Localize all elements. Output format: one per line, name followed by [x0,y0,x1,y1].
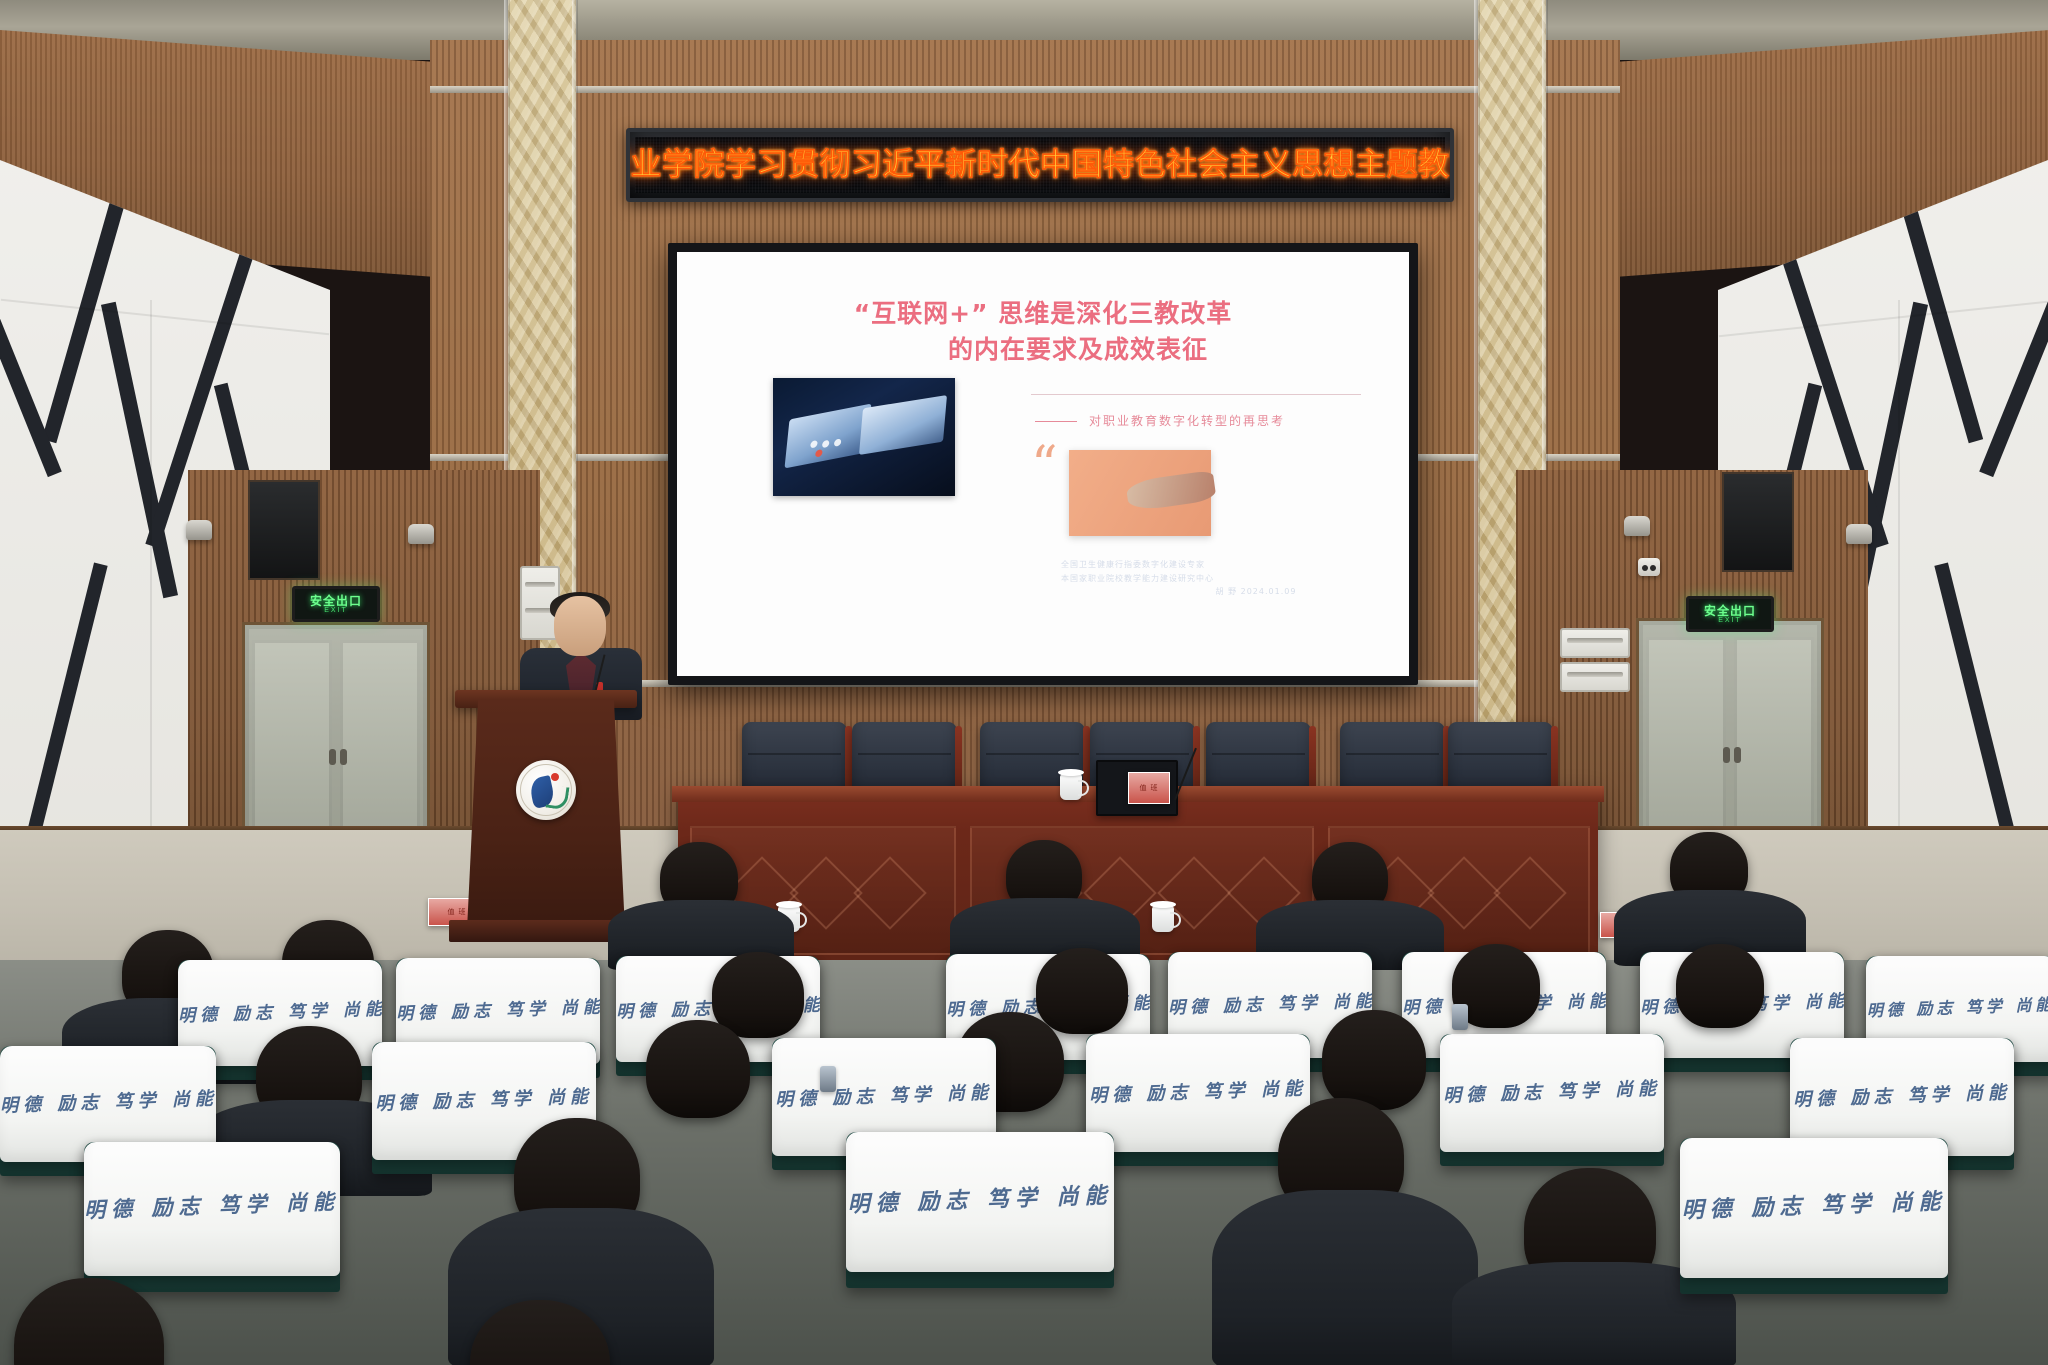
audience-chair[interactable]: 明德 励志 笃学 尚能 [1086,1034,1310,1166]
teacup-lid [1058,769,1084,776]
audience-head [1322,1010,1426,1110]
slide-title-line2: 的内在要求及成效表征 [677,332,1409,368]
folding-device-left-icon [784,404,871,469]
wall-trim-upper [430,86,1620,93]
name-card-center: 值 班 [1128,772,1170,804]
projection-screen[interactable]: “互联网+” 思维是深化三教改革 的内在要求及成效表征 对职业教育数字化转型的再… [677,252,1409,676]
audience-chair[interactable]: 明德 励志 笃学 尚能 [1680,1138,1948,1294]
chair-motto-text: 明德 励志 笃学 尚能 [772,1078,996,1112]
teacup-front-row [1152,906,1174,932]
chair-seam [858,753,950,755]
chair-seam [1096,753,1188,755]
door-handle[interactable] [329,749,336,765]
door-handle[interactable] [340,749,347,765]
app-dot-icon [834,438,842,447]
app-dot-icon [810,440,818,449]
wall-control-panel-2[interactable] [1560,662,1630,692]
wall-control-panel-1[interactable] [1560,628,1630,658]
name-card-text: 值 班 [1132,776,1166,800]
chair-cover: 明德 励志 笃学 尚能 [84,1142,340,1276]
table-diamond-motif [853,856,927,930]
spotlight-right [1624,516,1650,536]
exit-sign-en-text: EXIT [1718,617,1742,624]
chair-motto-text: 明德 励志 笃学 尚能 [1440,1074,1664,1108]
led-banner-text: 漳州卫生职业学院学习贯彻习近平新时代中国特色社会主义思想主题教育专题讲座 [626,150,1454,181]
led-banner: 漳州卫生职业学院学习贯彻习近平新时代中国特色社会主义思想主题教育专题讲座 [626,128,1454,202]
table-diamond-motif [1493,856,1567,930]
audience-head [1036,948,1128,1034]
chair-motto-text: 明德 励志 笃学 尚能 [846,1177,1114,1218]
chair-motto-text: 明德 励志 笃学 尚能 [1086,1074,1310,1108]
chair-seam [748,753,840,755]
presenter-head [554,596,606,656]
slide-credit-block: 全国卫生健康行指委数字化建设专家 本国家职业院校教学能力建设研究中心 胡 野 2… [1061,558,1391,599]
chair-motto-text: 明德 励志 笃学 尚能 [1866,991,2048,1022]
chair-motto-text: 明德 励志 笃学 尚能 [84,1186,340,1225]
projection-screen-frame: “互联网+” 思维是深化三教改革 的内在要求及成效表征 对职业教育数字化转型的再… [668,243,1418,685]
teacup-lid [776,901,802,908]
audience-shoulders [1212,1190,1478,1365]
loudspeaker-box-left [248,480,320,580]
chair-cover: 明德 励志 笃学 尚能 [1440,1034,1664,1152]
zigzag-stripe [26,562,107,837]
panel-seam [1719,301,2047,337]
chair-seam [1346,753,1438,755]
audience-head [712,952,804,1038]
spotlight-right-2 [1846,524,1872,544]
slide-credit-line1: 全国卫生健康行指委数字化建设专家 [1061,560,1205,569]
figure-arm-shape [1125,470,1216,512]
chair-motto-text: 明德 励志 笃学 尚能 [1790,1078,2014,1112]
teacup-center [1060,774,1082,800]
chair-motto-text: 明德 励志 笃学 尚能 [0,1084,216,1118]
zigzag-stripe [0,277,62,477]
chair-cover: 明德 励志 笃学 尚能 [846,1132,1114,1272]
exit-sign-right: 安全出口 EXIT [1686,596,1774,632]
security-camera-icon [1638,558,1660,576]
slide-subtitle: 对职业教育数字化转型的再思考 [1035,412,1285,429]
zigzag-stripe [1934,562,2015,837]
folding-device-right-icon [859,395,947,455]
outlet-slit [525,582,555,587]
chair-seam [986,753,1078,755]
chair-seam [1212,753,1304,755]
camera-lens-icon [1650,565,1656,571]
exit-sign-en-text: EXIT [324,607,348,614]
audience-head [646,1020,750,1118]
slide-device-photo [773,378,955,496]
panel-slit [1567,672,1622,677]
presentation-slide: “互联网+” 思维是深化三教改革 的内在要求及成效表征 对职业教育数字化转型的再… [677,252,1409,676]
loudspeaker-box-right [1722,472,1794,572]
chair-motto-text: 明德 励志 笃学 尚能 [1680,1183,1948,1224]
exit-sign-left: 安全出口 EXIT [292,586,380,622]
emblem-dot-icon [551,773,559,781]
slide-title-line1: “互联网+” 思维是深化三教改革 [854,299,1233,328]
slide-credit-line3: 胡 野 2024.01.09 [1061,585,1391,599]
chair-motto-text: 明德 励志 笃学 尚能 [1168,986,1372,1018]
led-banner-screen: 漳州卫生职业学院学习贯彻习近平新时代中国特色社会主义思想主题教育专题讲座 [635,137,1445,193]
teacup-lid [1150,901,1176,908]
school-emblem [516,760,576,820]
exit-sign-cn-text: 安全出口 [310,595,362,607]
audience-chair[interactable]: 明德 励志 笃学 尚能 [846,1132,1114,1288]
chair-seam [1454,753,1546,755]
slide-title: “互联网+” 思维是深化三教改革 的内在要求及成效表征 [677,296,1409,367]
chair-cover: 明德 励志 笃学 尚能 [1086,1034,1310,1152]
slide-accent-figure: “ [1069,450,1211,536]
panel-seam [150,300,152,900]
spotlight-left [186,520,212,540]
zigzag-stripe [101,302,178,599]
exit-sign-cn-text: 安全出口 [1704,605,1756,617]
audience-chair[interactable]: 明德 励志 笃学 尚能 [84,1142,340,1292]
ceiling-beam [520,0,1530,40]
app-dot-red-icon [815,449,823,458]
chair-cover: 明德 励志 笃学 尚能 [1680,1138,1948,1278]
slide-divider-rule [1031,394,1361,395]
chair-motto-text: 明德 励志 笃学 尚能 [396,992,600,1024]
slide-subtitle-dash [1035,421,1077,422]
door-handle[interactable] [1734,747,1741,763]
slide-credit-line2: 本国家职业院校教学能力建设研究中心 [1061,574,1214,583]
quote-mark-icon: “ [1031,440,1058,492]
slide-subtitle-text: 对职业教育数字化转型的再思考 [1089,414,1285,428]
panel-slit [1567,638,1622,643]
camera-lens-icon [1642,565,1648,571]
smartphone[interactable] [1452,1004,1468,1030]
panel-seam [1898,300,1900,900]
chair-motto-text: 明德 励志 笃学 尚能 [178,994,382,1026]
door-handle[interactable] [1723,747,1730,763]
panel-seam [1,299,329,335]
audience-chair[interactable]: 明德 励志 笃学 尚能 [1440,1034,1664,1166]
app-dot-icon [822,440,830,449]
chair-motto-text: 明德 励志 笃学 尚能 [372,1082,596,1116]
audience-head [1676,944,1764,1028]
spotlight-left-2 [408,524,434,544]
smartphone[interactable] [820,1066,836,1092]
lecture-hall-photo: 漳州卫生职业学院学习贯彻习近平新时代中国特色社会主义思想主题教育专题讲座 “互联… [0,0,2048,1365]
